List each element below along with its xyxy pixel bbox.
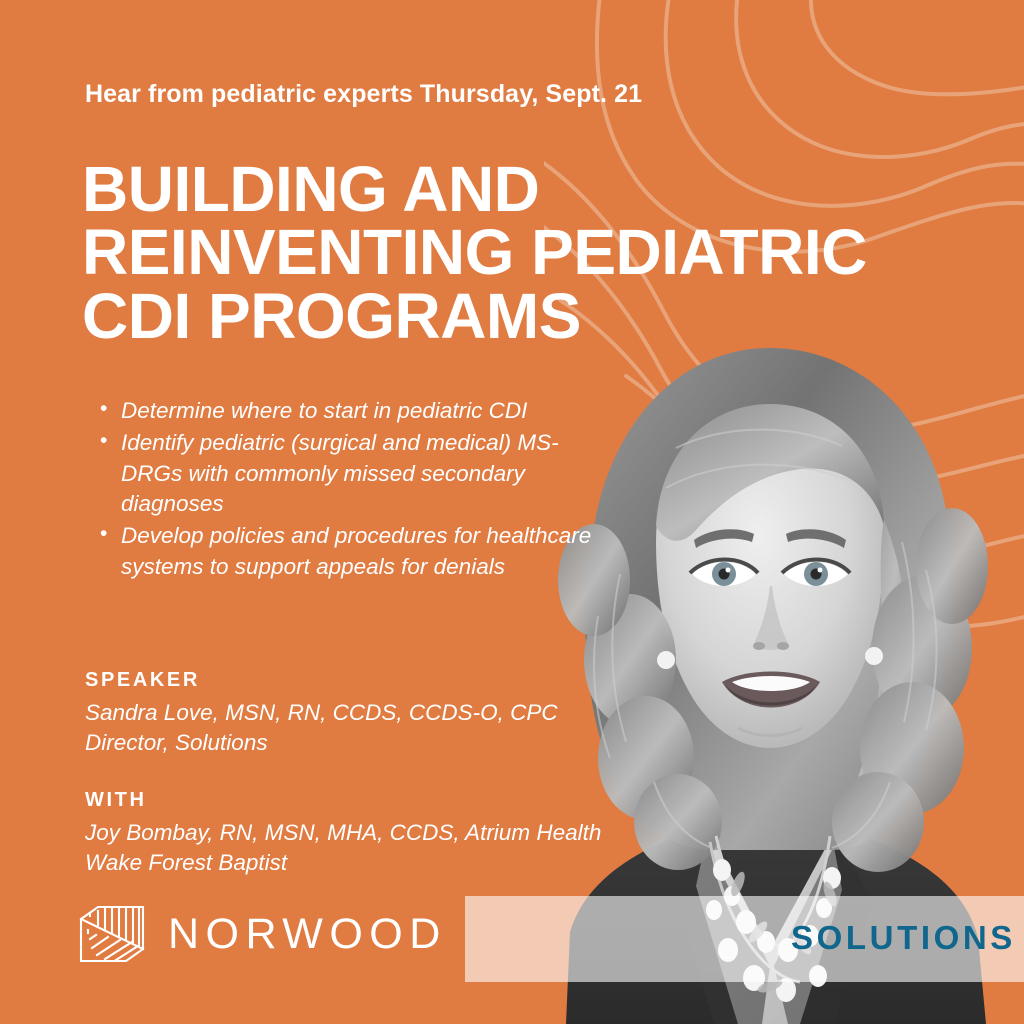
solutions-wordmark: SOLUTIONS bbox=[791, 921, 1016, 954]
norwood-logo: NORWOOD bbox=[78, 903, 447, 965]
norwood-hexagon-lines-mark bbox=[78, 903, 146, 965]
session-objectives-list: Determine where to start in pediatric CD… bbox=[97, 396, 602, 584]
with-speaker-name: Joy Bombay, RN, MSN, MHA, CCDS, Atrium H… bbox=[85, 818, 605, 878]
speaker-label: SPEAKER bbox=[85, 669, 200, 692]
list-item: Develop policies and procedures for heal… bbox=[97, 521, 602, 583]
page-title: BUILDING AND REINVENTING PEDIATRIC CDI P… bbox=[82, 158, 922, 348]
promo-poster: Hear from pediatric experts Thursday, Se… bbox=[0, 0, 1024, 1024]
speaker-details: Sandra Love, MSN, RN, CCDS, CCDS-O, CPC … bbox=[85, 698, 605, 758]
eyebrow-text: Hear from pediatric experts Thursday, Se… bbox=[85, 80, 642, 109]
list-item: Identify pediatric (surgical and medical… bbox=[97, 428, 602, 520]
speaker-title: Director, Solutions bbox=[85, 728, 605, 758]
with-label: WITH bbox=[85, 789, 147, 812]
poster-content: Hear from pediatric experts Thursday, Se… bbox=[85, 0, 705, 1024]
norwood-wordmark: NORWOOD bbox=[168, 913, 447, 956]
list-item: Determine where to start in pediatric CD… bbox=[97, 396, 602, 427]
speaker-name: Sandra Love, MSN, RN, CCDS, CCDS-O, CPC bbox=[85, 698, 605, 728]
